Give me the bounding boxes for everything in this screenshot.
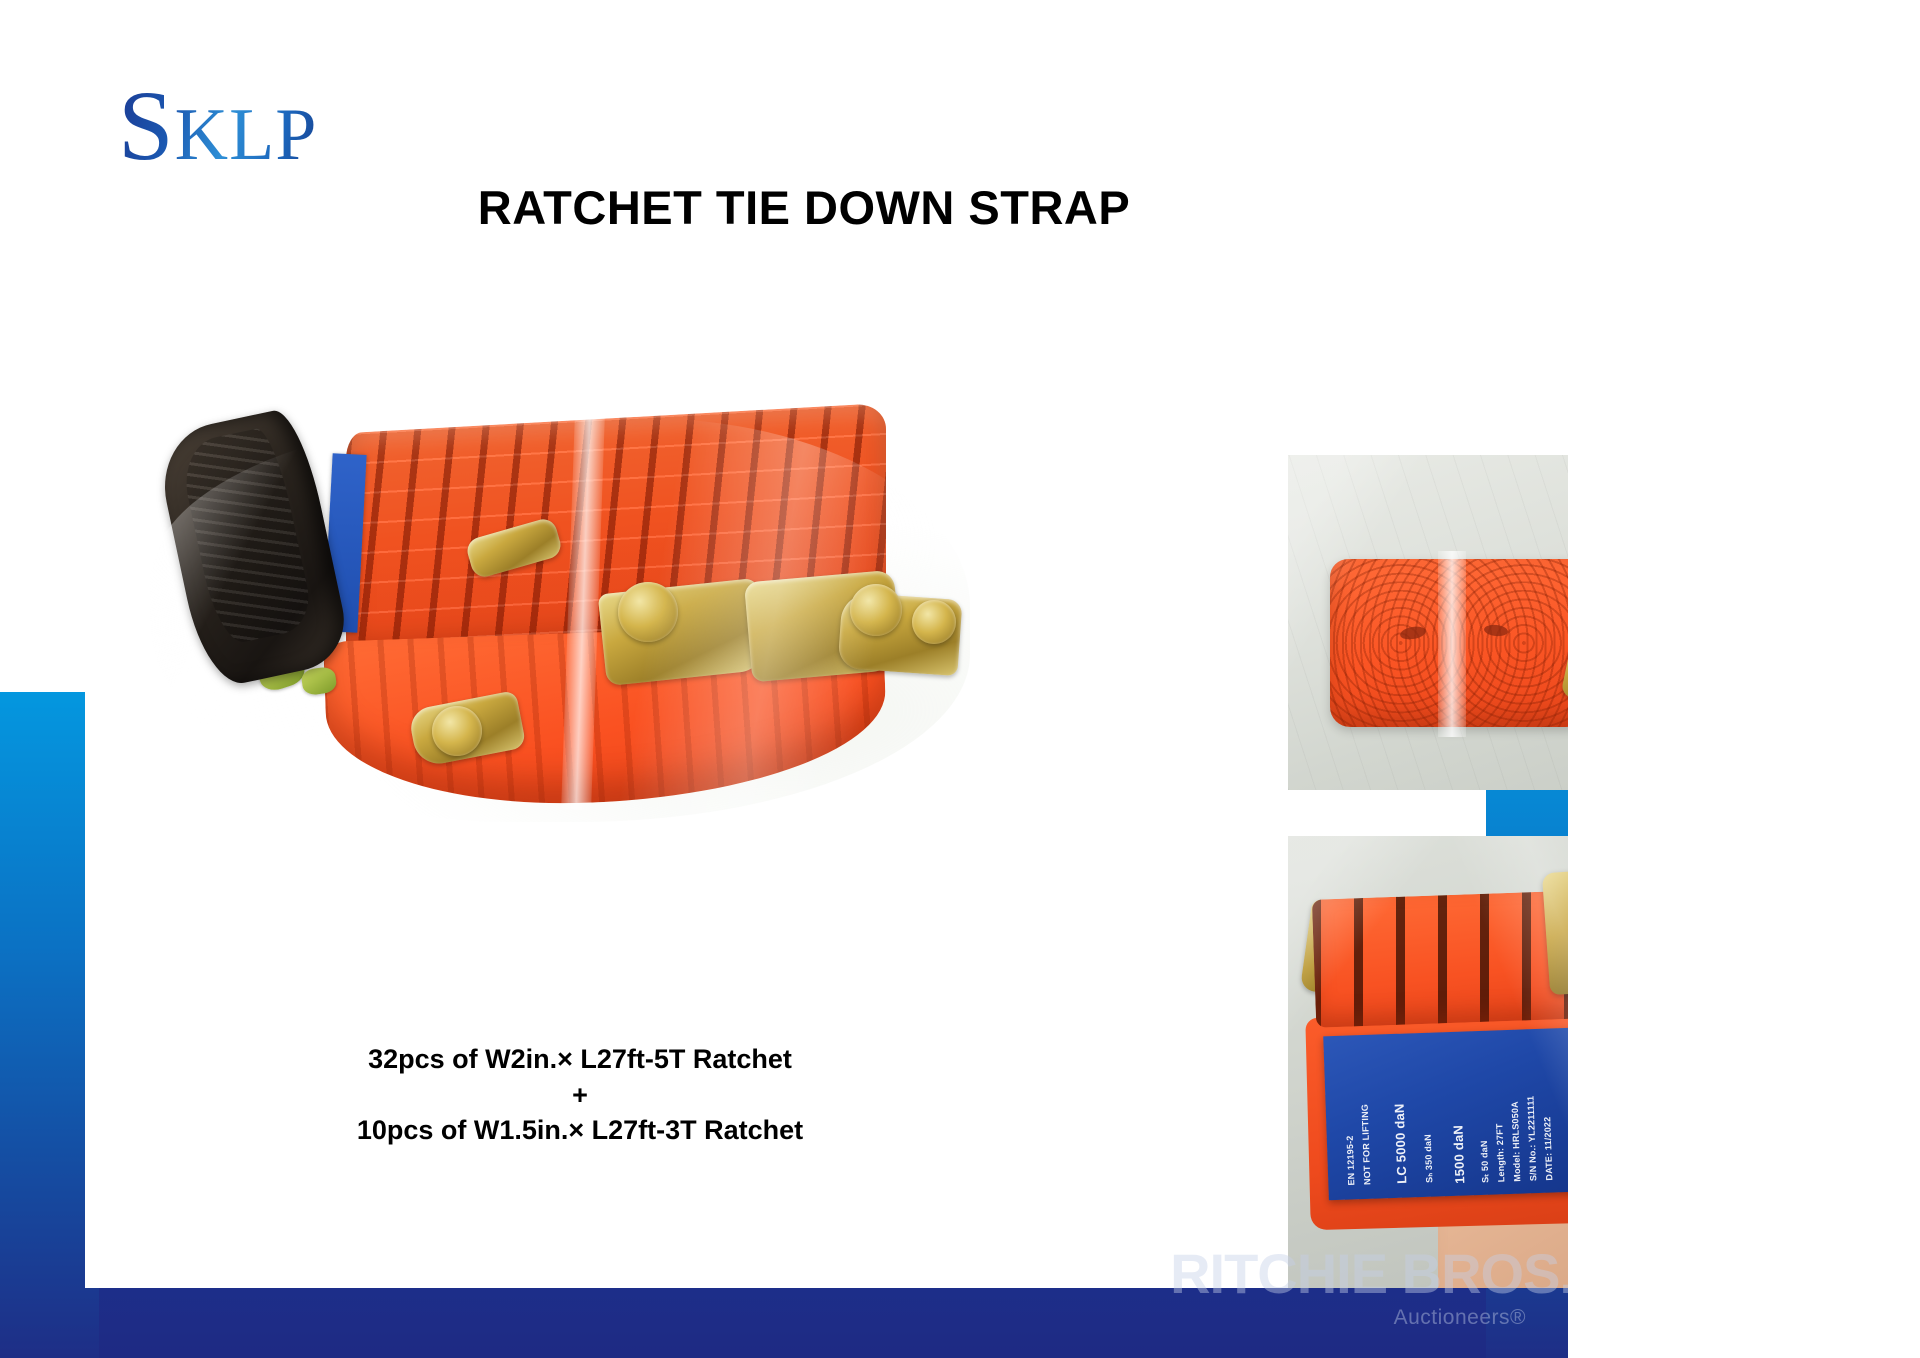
thumb2-webbing-upper [1312, 888, 1568, 1027]
thumbnail-coiled-strap[interactable] [1288, 455, 1568, 790]
ratchet-gear-2 [850, 584, 902, 636]
ratchet-gear-1 [618, 582, 678, 642]
caption-plus-symbol: + [120, 1078, 1040, 1114]
label-model: Model: HRLS050A [1510, 1101, 1523, 1182]
caption-line-1: 32pcs of W2in.× L27ft-5T Ratchet [120, 1042, 1040, 1078]
slide-canvas: SKLP RATCHET TIE DOWN STRAP [0, 0, 1568, 1358]
label-standard-text: EN 12195-2 [1345, 1135, 1357, 1185]
hero-product-image [150, 400, 970, 830]
label-warning-text: NOT FOR LIFTING [1360, 1104, 1373, 1185]
product-spec-caption: 32pcs of W2in.× L27ft-5T Ratchet + 10pcs… [120, 1042, 1040, 1149]
label-date: DATE: 11/2022 [1542, 1117, 1554, 1181]
logo-letter-p: P [275, 94, 317, 176]
page-title: RATCHET TIE DOWN STRAP [0, 180, 1568, 235]
caption-line-3: 10pcs of W1.5in.× L27ft-3T Ratchet [120, 1113, 1040, 1149]
ratchet-gear-4 [432, 706, 482, 756]
logo-letter-s: S [118, 70, 175, 181]
label-stf-rating: Sₜ 50 daN [1479, 1140, 1491, 1183]
thumb2-blue-spec-label: EN 12195-2 NOT FOR LIFTING LC 5000 daN S… [1323, 1028, 1568, 1201]
label-shf-rating: Sₕ 350 daN [1423, 1134, 1436, 1183]
label-lc-rating: LC 5000 daN [1392, 1103, 1410, 1184]
label-length: Length: 27FT [1494, 1123, 1506, 1182]
sklp-logo: SKLP [118, 76, 317, 176]
label-serial-number: S/N No.: YL2211111 [1525, 1096, 1538, 1182]
ratchet-gear-3 [912, 600, 956, 644]
thumb1-wrap-sheen [1288, 455, 1568, 790]
label-1500dan: 1500 daN [1450, 1125, 1467, 1184]
thumbnail-hand-holding-strap[interactable]: EN 12195-2 NOT FOR LIFTING LC 5000 daN S… [1288, 836, 1568, 1288]
logo-letters-kl: KL [175, 94, 276, 176]
